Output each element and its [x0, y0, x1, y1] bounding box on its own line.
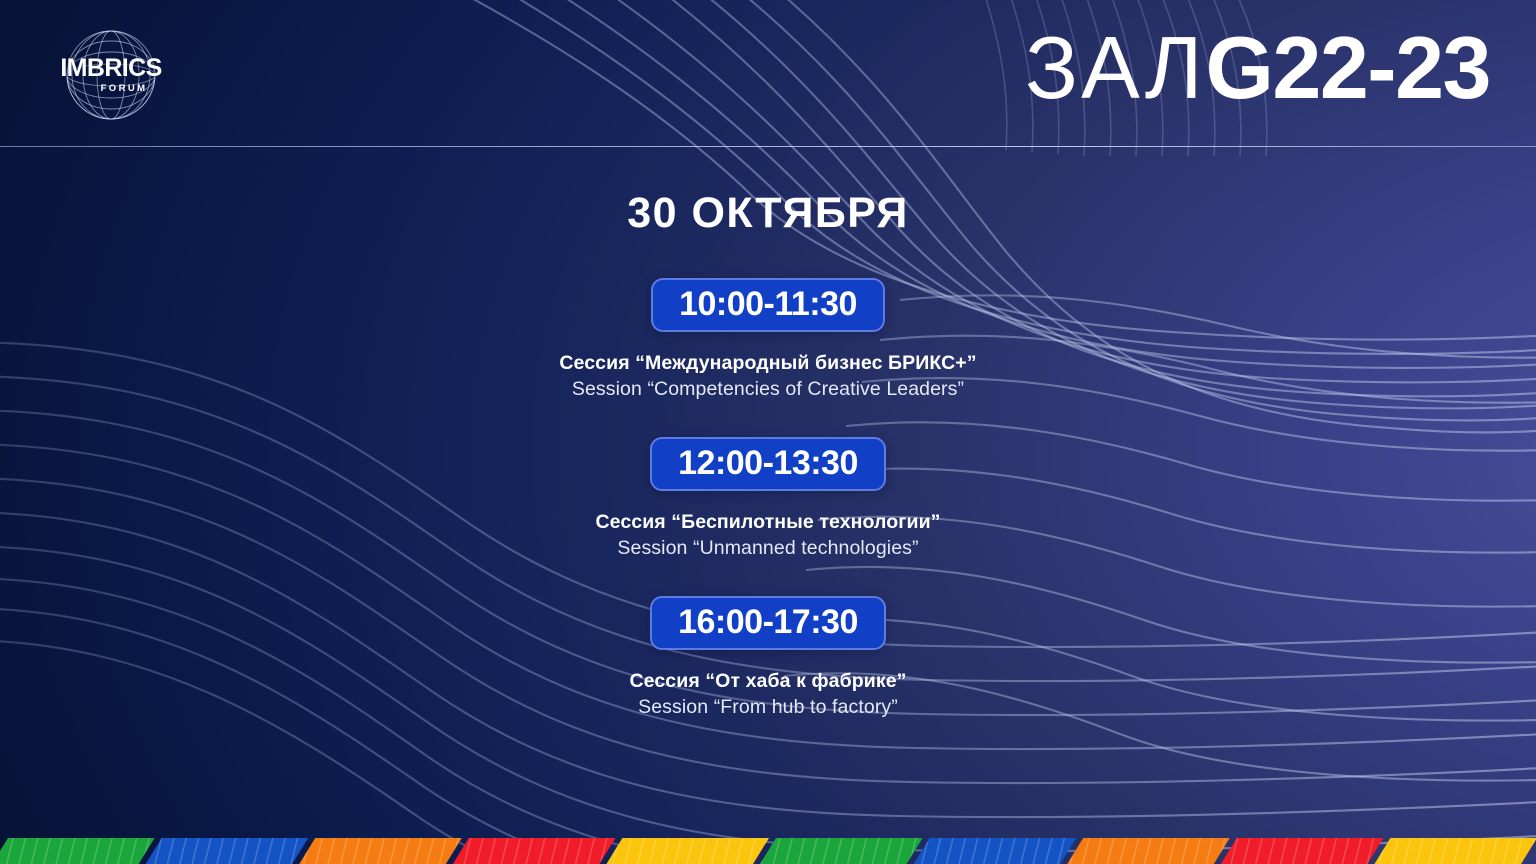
session-title-ru: Сессия “Международный бизнес БРИКС+” [559, 352, 976, 375]
slide-canvas: IMBRICS FORUM ЗАЛG22-23 30 ОКТЯБРЯ 10:00… [0, 0, 1536, 864]
session-time-badge: 12:00-13:30 [650, 437, 886, 491]
footer-stripe [1067, 838, 1230, 864]
date-title: 30 ОКТЯБРЯ [627, 189, 909, 238]
footer-stripe [914, 838, 1077, 864]
slide-body: 30 ОКТЯБРЯ 10:00-11:30 Сессия “Междунаро… [0, 147, 1536, 827]
hall-title: ЗАЛG22-23 [1025, 24, 1490, 112]
session-title-ru: Сессия “Беспилотные технологии” [595, 511, 940, 534]
footer-stripe [606, 838, 769, 864]
footer-stripe [1374, 838, 1536, 864]
logo-subtext: FORUM [101, 83, 148, 94]
hall-number: G22-23 [1205, 18, 1490, 117]
session-title-en: Session “From hub to factory” [638, 696, 898, 719]
logo: IMBRICS FORUM [50, 27, 172, 123]
footer-stripe [453, 838, 616, 864]
session-item: 10:00-11:30 Сессия “Международный бизнес… [559, 278, 976, 401]
footer-stripe [0, 838, 155, 864]
footer-stripe [760, 838, 923, 864]
header-divider [0, 146, 1536, 147]
session-list: 10:00-11:30 Сессия “Международный бизнес… [0, 278, 1536, 719]
footer-stripe [299, 838, 462, 864]
session-time-badge: 10:00-11:30 [651, 278, 885, 332]
session-title-en: Session “Unmanned technologies” [617, 537, 918, 560]
session-title-ru: Сессия “От хаба к фабрике” [629, 670, 906, 693]
session-item: 12:00-13:30 Сессия “Беспилотные технолог… [595, 437, 940, 560]
footer-stripe [1221, 838, 1384, 864]
session-title-en: Session “Competencies of Creative Leader… [572, 378, 964, 401]
session-time-badge: 16:00-17:30 [650, 596, 886, 650]
session-item: 16:00-17:30 Сессия “От хаба к фабрике” S… [629, 596, 906, 719]
slide-header: IMBRICS FORUM ЗАЛG22-23 [0, 0, 1536, 147]
footer-stripe [146, 838, 309, 864]
hall-label: ЗАЛ [1025, 18, 1206, 117]
logo-wordmark: IMBRICS [60, 56, 161, 81]
footer-color-bar [0, 838, 1536, 864]
